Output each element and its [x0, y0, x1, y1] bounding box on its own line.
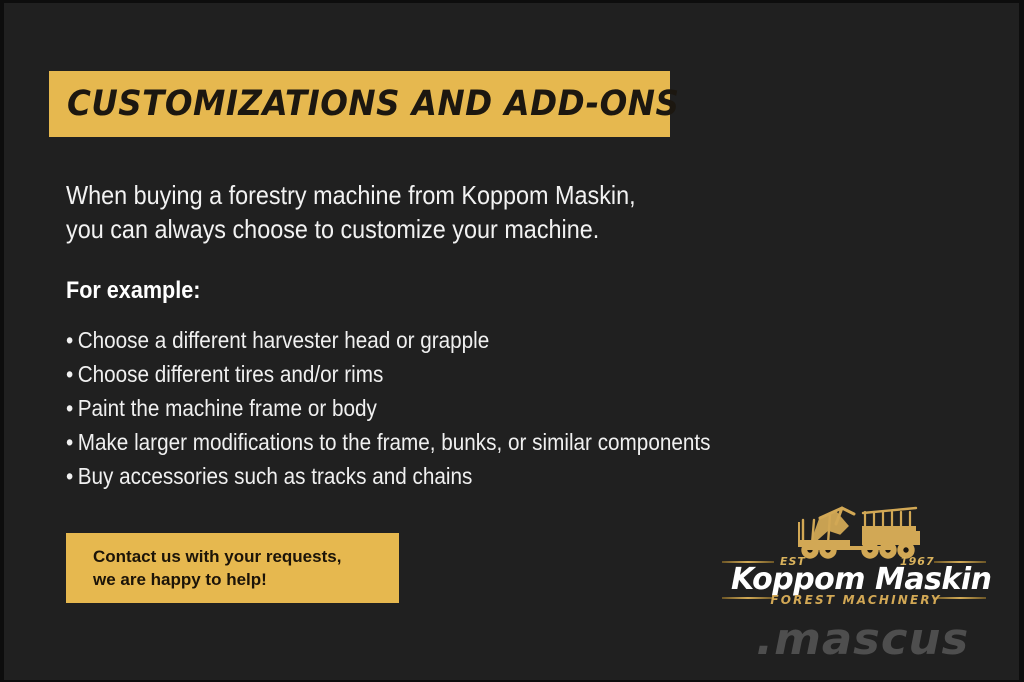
list-item-label: Buy accessories such as tracks and chain… — [78, 463, 473, 489]
bullet-icon: • — [66, 391, 78, 425]
list-item: •Make larger modifications to the frame,… — [66, 425, 710, 459]
slide-edge-top — [0, 0, 1024, 3]
contact-cta-line-2: we are happy to help! — [93, 568, 399, 591]
forestry-forwarder-icon — [770, 500, 940, 560]
contact-cta-line-1: Contact us with your requests, — [93, 545, 399, 568]
list-item-label: Make larger modifications to the frame, … — [78, 429, 711, 455]
list-item: •Choose a different harvester head or gr… — [66, 323, 710, 357]
bullet-icon: • — [66, 323, 78, 357]
list-item: •Choose different tires and/or rims — [66, 357, 710, 391]
intro-line-2: you can always choose to customize your … — [66, 212, 750, 246]
intro-paragraph: When buying a forestry machine from Kopp… — [66, 178, 750, 246]
list-item-label: Choose a different harvester head or gra… — [78, 327, 490, 353]
contact-cta-box[interactable]: Contact us with your requests, we are ha… — [66, 533, 399, 603]
list-item-label: Choose different tires and/or rims — [78, 361, 384, 387]
list-item-label: Paint the machine frame or body — [78, 395, 377, 421]
promo-slide: CUSTOMIZATIONS AND ADD-ONS When buying a… — [0, 0, 1024, 682]
intro-line-1: When buying a forestry machine from Kopp… — [66, 178, 750, 212]
customization-options-list: •Choose a different harvester head or gr… — [66, 323, 710, 493]
for-example-label: For example: — [66, 277, 200, 305]
list-item: •Buy accessories such as tracks and chai… — [66, 459, 710, 493]
company-logo: EST 1967 Koppom Maskin FOREST MACHINERY — [718, 500, 990, 612]
bullet-icon: • — [66, 357, 78, 391]
logo-company-name: Koppom Maskin — [731, 562, 981, 597]
bullet-icon: • — [66, 459, 78, 493]
mascus-watermark: .mascus — [756, 614, 969, 665]
bullet-icon: • — [66, 425, 78, 459]
list-item: •Paint the machine frame or body — [66, 391, 710, 425]
slide-edge-left — [0, 0, 4, 682]
slide-edge-right — [1019, 0, 1024, 682]
title-banner: CUSTOMIZATIONS AND ADD-ONS — [49, 71, 670, 137]
page-title: CUSTOMIZATIONS AND ADD-ONS — [67, 84, 679, 124]
logo-tagline: FOREST MACHINERY — [731, 593, 981, 607]
